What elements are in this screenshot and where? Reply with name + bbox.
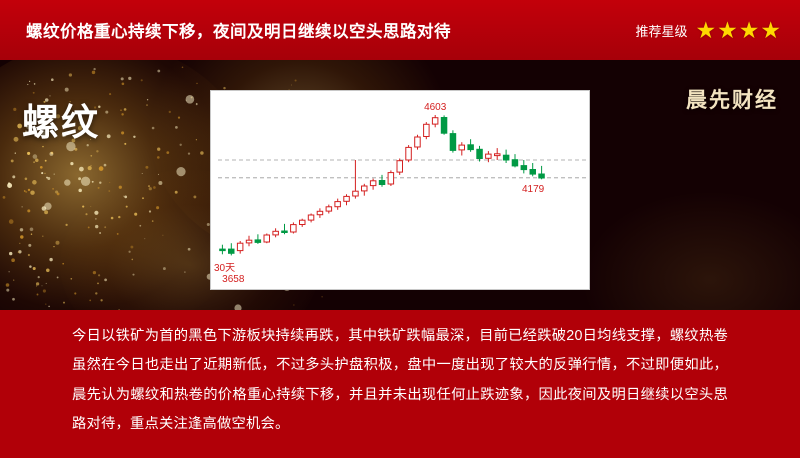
star-icon-3: ★	[739, 19, 760, 42]
header-bar: 螺纹价格重心持续下移，夜间及明日继续以空头思路对待 推荐星级 ★★★★	[0, 0, 800, 62]
svg-text:30天: 30天	[214, 263, 235, 274]
star-icon-4: ★	[760, 19, 781, 42]
candlestick-chart: 46033658417930天	[210, 90, 590, 290]
brand-logo-text: 晨先财经	[686, 84, 778, 114]
rating-stars: ★★★★	[696, 19, 783, 42]
star-icon-1: ★	[696, 19, 717, 42]
svg-text:4603: 4603	[424, 102, 447, 113]
commentary-text: 今日以铁矿为首的黑色下游板块持续再跌，其中铁矿跌幅最深，目前已经跌破20日均线支…	[0, 310, 800, 440]
svg-text:4179: 4179	[522, 184, 545, 195]
rating-label: 推荐星级	[635, 21, 687, 40]
svg-text:3658: 3658	[222, 274, 245, 285]
chart-canvas: 46033658417930天	[210, 90, 590, 290]
rating-group: 推荐星级 ★★★★	[635, 0, 782, 60]
page-title: 螺纹价格重心持续下移，夜间及明日继续以空头思路对待	[26, 18, 451, 42]
poster-root: 螺纹价格重心持续下移，夜间及明日继续以空头思路对待 推荐星级 ★★★★ 螺纹 晨…	[0, 0, 800, 458]
star-icon-2: ★	[717, 19, 738, 42]
commodity-name: 螺纹	[22, 92, 100, 146]
commentary-panel: 今日以铁矿为首的黑色下游板块持续再跌，其中铁矿跌幅最深，目前已经跌破20日均线支…	[0, 310, 800, 458]
